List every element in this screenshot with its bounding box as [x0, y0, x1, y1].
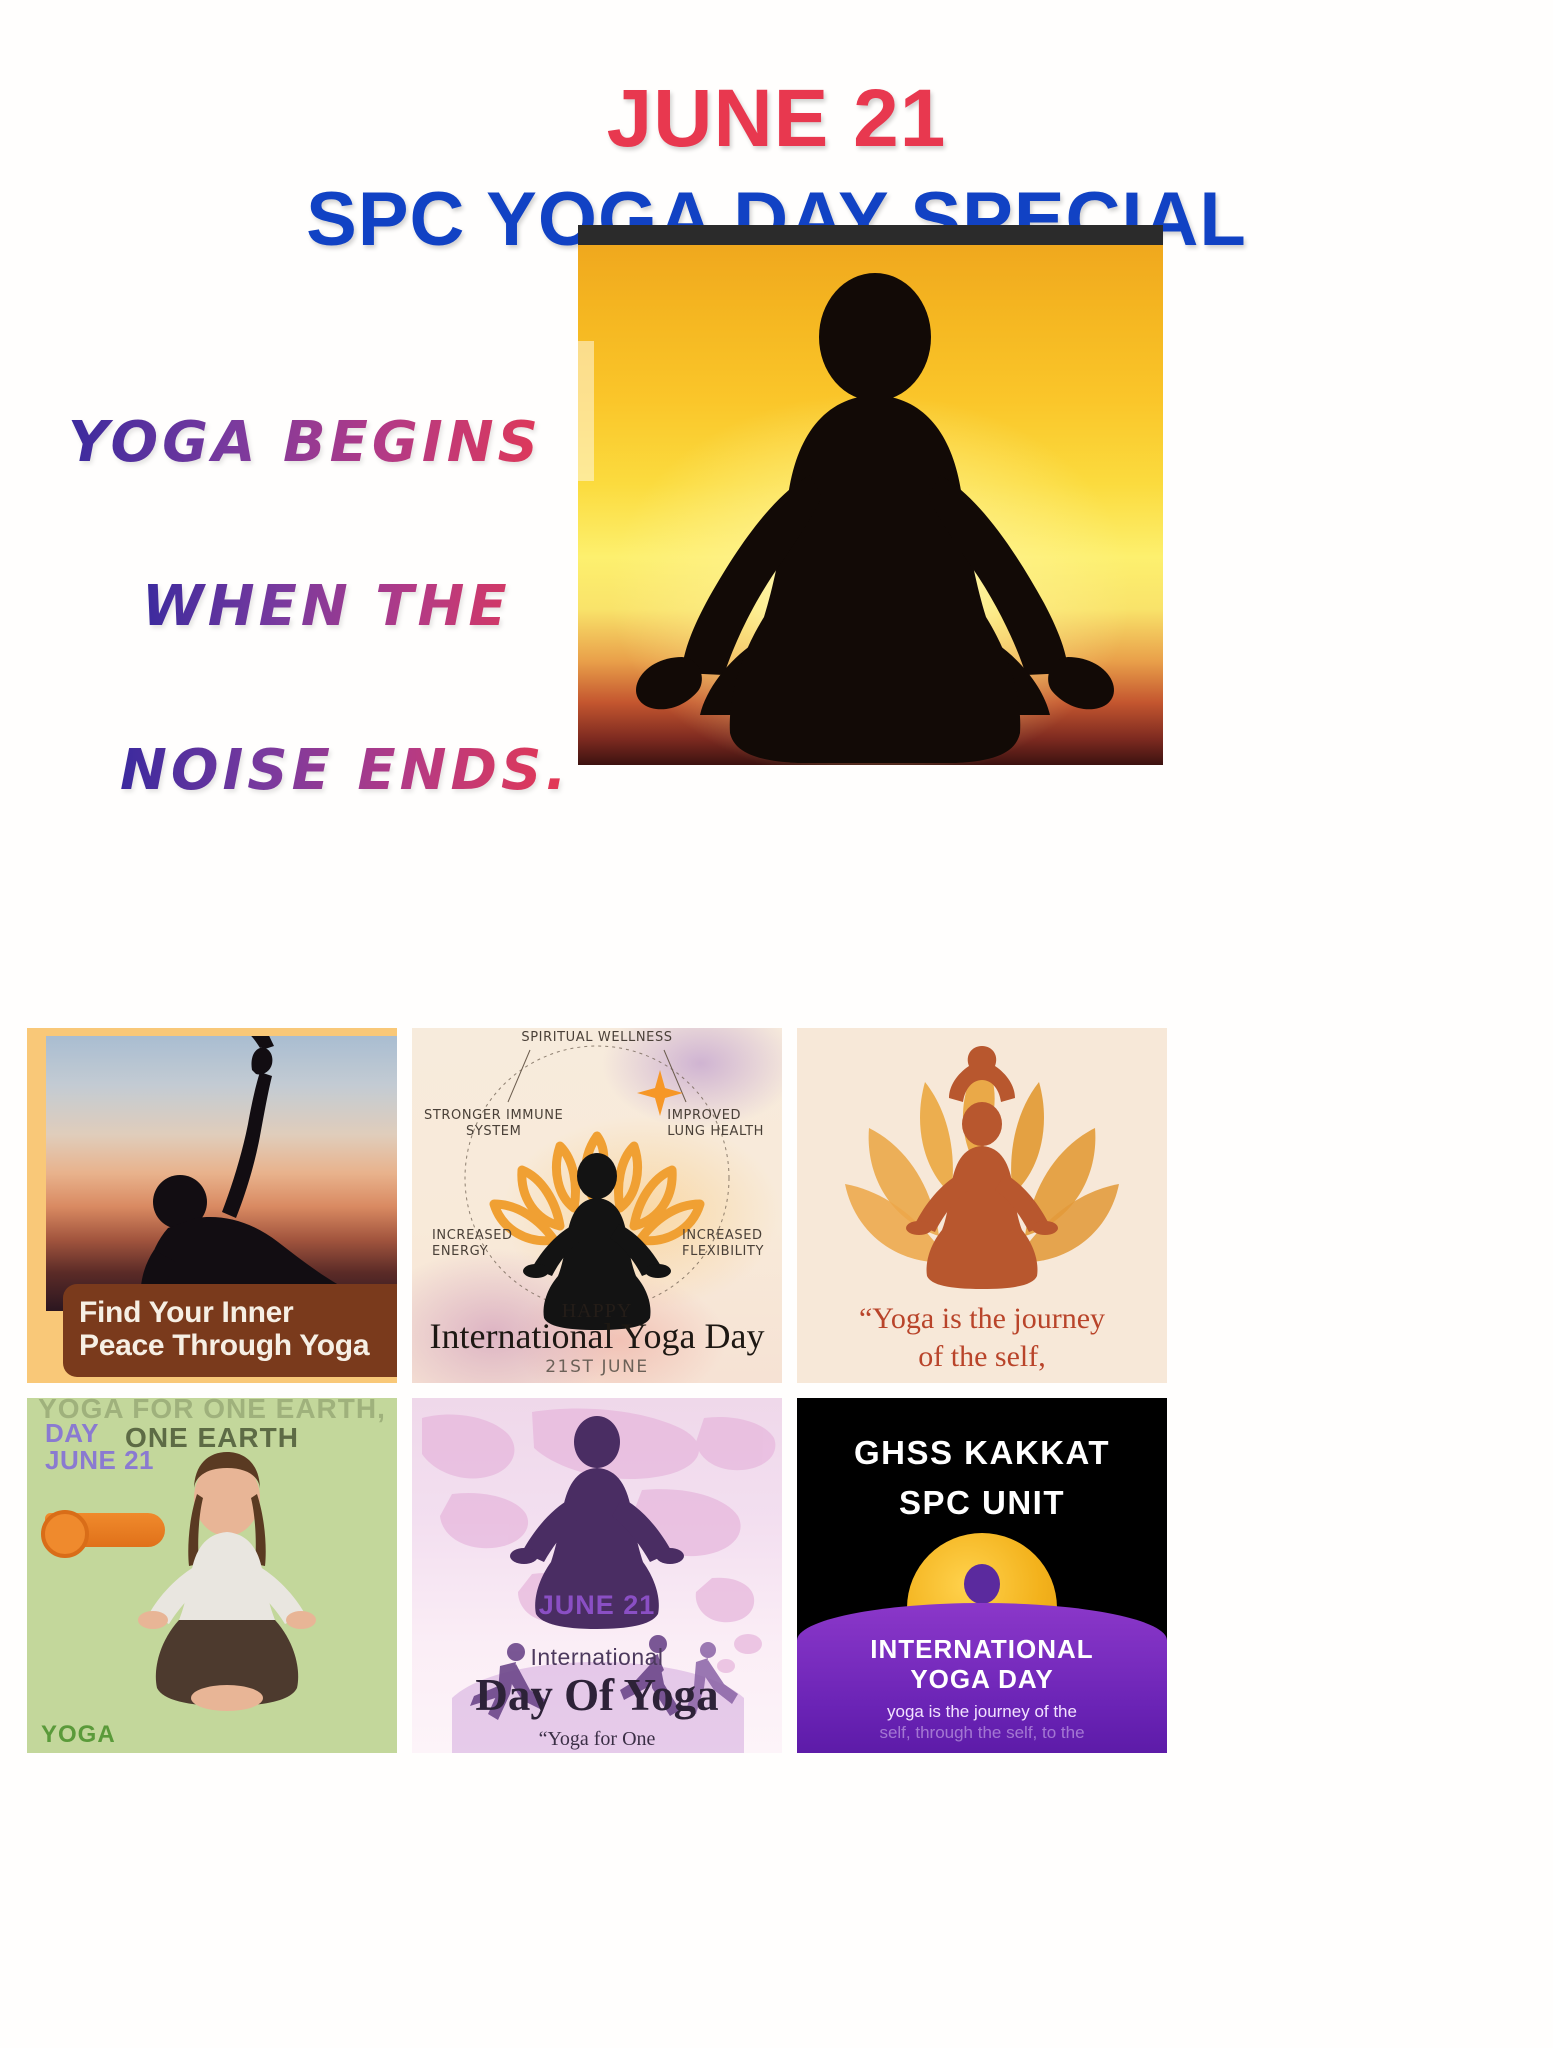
- yoga-journey-quote-text: “Yoga is the journey of the self,: [797, 1300, 1167, 1375]
- hero-meditation-image: [578, 225, 1163, 765]
- card-ghss-kakkat-spc-unit: GHSS KAKKAT SPC UNIT INT: [797, 1398, 1167, 1753]
- poster-card-grid: Find Your Inner Peace Through Yoga: [27, 1028, 1167, 1768]
- june21-label: JUNE 21: [412, 1590, 782, 1621]
- label-stronger-immune-system: STRONGER IMMUNE SYSTEM: [424, 1108, 563, 1141]
- banner-line-2: Peace Through Yoga: [79, 1329, 395, 1363]
- lotus-pose-silhouette-icon: [578, 245, 1163, 765]
- label-energy-line1: INCREASED: [432, 1228, 513, 1243]
- card-yoga-for-one-earth: YOGA FOR ONE EARTH, ONE EARTH DAY JUNE 2…: [27, 1398, 397, 1753]
- card-happy-international-yoga-day: SPIRITUAL WELLNESS STRONGER IMMUNE SYSTE…: [412, 1028, 782, 1383]
- poster-header: JUNE 21 SPC YOGA DAY SPECIAL: [0, 0, 1553, 258]
- international-yoga-day-heading: INTERNATIONAL YOGA DAY: [797, 1635, 1167, 1695]
- quote-line-1: YOGA BEGINS: [68, 415, 578, 471]
- label-immune-line2: SYSTEM: [466, 1124, 521, 1139]
- page-title: JUNE 21: [0, 78, 1553, 160]
- quote-text-line-1: “Yoga is the journey: [797, 1300, 1167, 1338]
- quote-line-3: NOISE ENDS.: [120, 743, 578, 799]
- yoga-quote-block: YOGA BEGINS WHEN THE NOISE ENDS.: [58, 415, 578, 799]
- card-yoga-journey-quote: “Yoga is the journey of the self,: [797, 1028, 1167, 1383]
- label-increased-energy: INCREASED ENERGY: [432, 1228, 513, 1261]
- label-improved-lung-health: IMPROVED LUNG HEALTH: [667, 1108, 764, 1141]
- inner-peace-banner: Find Your Inner Peace Through Yoga: [63, 1284, 397, 1377]
- label-lung-line2: LUNG HEALTH: [667, 1124, 764, 1139]
- label-immune-line1: STRONGER IMMUNE: [424, 1108, 563, 1123]
- label-increased-flexibility: INCREASED FLEXIBILITY: [682, 1228, 764, 1261]
- card-find-inner-peace: Find Your Inner Peace Through Yoga: [27, 1028, 397, 1383]
- iyd-heading-line2: YOGA DAY: [910, 1664, 1053, 1694]
- poster-page: JUNE 21 SPC YOGA DAY SPECIAL YOGA BEGINS…: [0, 0, 1553, 2048]
- card-row-2: YOGA FOR ONE EARTH, ONE EARTH DAY JUNE 2…: [27, 1398, 1167, 1753]
- card-row-1: Find Your Inner Peace Through Yoga: [27, 1028, 1167, 1383]
- banner-line-1: Find Your Inner: [79, 1296, 395, 1330]
- hero-top-bar: [578, 225, 1163, 245]
- ghss-quote-line2: self, through the self, to the: [797, 1723, 1167, 1743]
- quote-text-line-2: of the self,: [797, 1338, 1167, 1376]
- ghss-quote-line1: yoga is the journey of the: [887, 1702, 1077, 1721]
- label-spiritual-wellness: SPIRITUAL WELLNESS: [521, 1030, 672, 1046]
- international-yoga-day-title: International Yoga Day: [412, 1315, 782, 1357]
- iyd-heading-line1: INTERNATIONAL: [870, 1634, 1093, 1664]
- label-flex-line1: INCREASED: [682, 1228, 763, 1243]
- label-lung-line1: IMPROVED: [667, 1108, 741, 1123]
- yoga-watermark: YOGA: [41, 1721, 116, 1749]
- ghss-quote-text: yoga is the journey of the self, through…: [797, 1702, 1167, 1743]
- label-energy-line2: ENERGY: [432, 1244, 488, 1259]
- day-of-yoga-title: Day Of Yoga: [412, 1669, 782, 1721]
- card-international-day-of-yoga: JUNE 21 International Day Of Yoga “Yoga …: [412, 1398, 782, 1753]
- sunset-backbend-photo: [46, 1036, 397, 1311]
- quote-line-2: WHEN THE: [142, 579, 578, 635]
- yoga-day-date: 21ST JUNE: [412, 1357, 782, 1377]
- international-label: International: [412, 1644, 782, 1671]
- seated-girl-photo: [27, 1398, 397, 1753]
- yoga-for-one-tagline: “Yoga for One: [412, 1728, 782, 1751]
- backbend-silhouette-icon: [46, 1036, 397, 1311]
- label-flex-line2: FLEXIBILITY: [682, 1244, 764, 1259]
